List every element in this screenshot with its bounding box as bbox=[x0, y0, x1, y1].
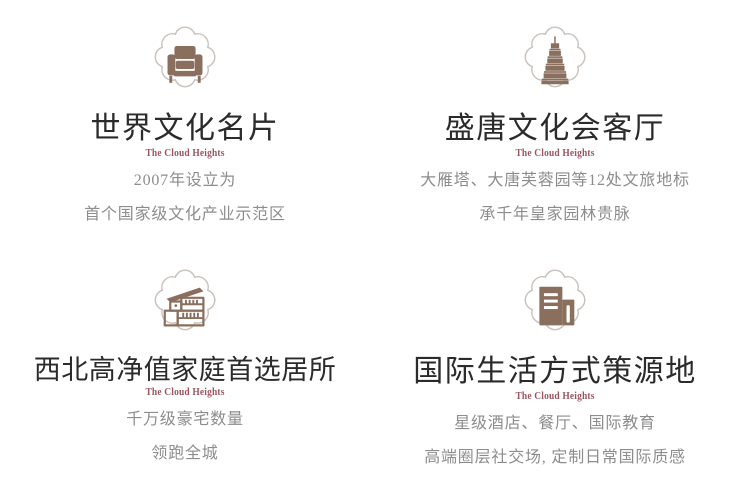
card-headline: 盛唐文化会客厅 bbox=[445, 112, 666, 146]
card-brand-line: The Cloud Heights bbox=[145, 147, 224, 159]
card-headline: 西北高净值家庭首选居所 bbox=[34, 355, 337, 385]
pagoda-icon bbox=[509, 18, 601, 110]
feature-grid: 世界文化名片 The Cloud Heights 2007年设立为 首个国家级文… bbox=[0, 0, 740, 494]
card-subline: 承千年皇家园林贵脉 bbox=[420, 207, 690, 223]
card-brand-line: The Cloud Heights bbox=[515, 147, 594, 159]
card-subline: 星级酒店、餐厅、国际教育 bbox=[424, 416, 686, 432]
feature-card-tang-culture-parlor: 盛唐文化会客厅 The Cloud Heights 大雁塔、大唐芙蓉园等12处文… bbox=[370, 0, 740, 247]
armchair-icon bbox=[139, 18, 231, 110]
card-subline-list: 大雁塔、大唐芙蓉园等12处文旅地标 承千年皇家园林贵脉 bbox=[420, 173, 690, 223]
card-subline-list: 千万级豪宅数量 领跑全城 bbox=[126, 412, 244, 462]
card-subline: 大雁塔、大唐芙蓉园等12处文旅地标 bbox=[420, 173, 690, 189]
villa-icon bbox=[139, 261, 231, 353]
card-subline-list: 星级酒店、餐厅、国际教育 高端圈层社交场, 定制日常国际质感 bbox=[424, 416, 686, 466]
card-subline: 高端圈层社交场, 定制日常国际质感 bbox=[424, 450, 686, 466]
buildings-icon bbox=[509, 261, 601, 353]
card-brand-line: The Cloud Heights bbox=[145, 386, 224, 398]
feature-card-cultural-namecard: 世界文化名片 The Cloud Heights 2007年设立为 首个国家级文… bbox=[0, 0, 370, 247]
card-headline: 世界文化名片 bbox=[91, 112, 280, 146]
card-subline: 2007年设立为 bbox=[84, 173, 286, 189]
card-subline-list: 2007年设立为 首个国家级文化产业示范区 bbox=[84, 173, 286, 223]
card-subline: 千万级豪宅数量 bbox=[126, 412, 244, 428]
card-headline: 国际生活方式策源地 bbox=[413, 355, 697, 389]
card-subline: 领跑全城 bbox=[126, 446, 244, 462]
feature-card-international-lifestyle: 国际生活方式策源地 The Cloud Heights 星级酒店、餐厅、国际教育… bbox=[370, 247, 740, 494]
card-brand-line: The Cloud Heights bbox=[515, 390, 594, 402]
feature-card-preferred-residence: 西北高净值家庭首选居所 The Cloud Heights 千万级豪宅数量 领跑… bbox=[0, 247, 370, 494]
card-subline: 首个国家级文化产业示范区 bbox=[84, 207, 286, 223]
